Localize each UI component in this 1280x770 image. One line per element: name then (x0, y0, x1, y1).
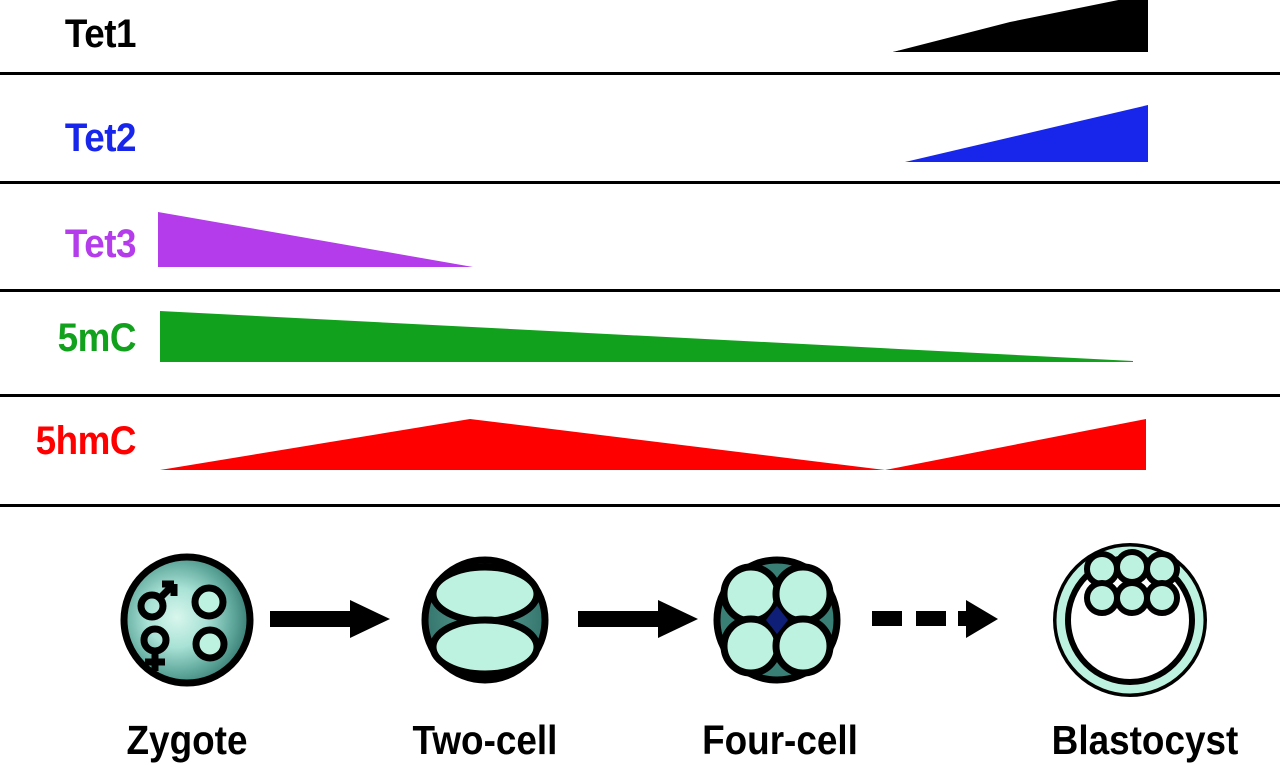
blastomere-bottom-right (776, 619, 830, 673)
5mc-band (160, 311, 1133, 362)
5hmc-band (160, 419, 1146, 470)
track-label-5hmc: 5hmC (11, 421, 136, 461)
pronucleus-lower (196, 630, 224, 658)
row-divider-3 (0, 289, 1280, 292)
blastomere-bottom (433, 620, 537, 674)
stage-label-two-cell: Two-cell (386, 720, 584, 761)
tet1-wedge (893, 0, 1148, 52)
track-label-tet2: Tet2 (11, 118, 136, 158)
track-label-tet1: Tet1 (11, 14, 136, 54)
blastomere-top (433, 567, 537, 621)
inner-cell-mass (1087, 552, 1177, 613)
blastomere-bottom-left (724, 619, 778, 673)
blastocyst-icon (1044, 534, 1216, 706)
tet1-wedge-fill (893, 0, 1148, 52)
tet3-wedge (158, 212, 473, 267)
tet1-wedge-shape (893, 0, 1148, 52)
stage-label-zygote: Zygote (88, 720, 286, 761)
arrow-four-cell-to-blastocyst (872, 598, 1000, 640)
arrow-two-cell-to-four-cell (578, 598, 702, 640)
four-cell-embryo-icon (707, 550, 847, 692)
stage-label-four-cell: Four-cell (681, 720, 879, 761)
two-cell-embryo-icon (415, 550, 555, 692)
blastomere-top-right (776, 567, 830, 621)
row-divider-4 (0, 394, 1280, 397)
stage-label-blastocyst: Blastocyst (1033, 720, 1258, 761)
figure-root: Tet1 Tet2 Tet3 5mC 5hmC (0, 0, 1280, 770)
pronucleus-upper (195, 588, 223, 616)
track-label-tet3: Tet3 (11, 224, 136, 264)
arrow-zygote-to-two-cell (270, 598, 394, 640)
row-divider-1 (0, 72, 1280, 75)
track-label-5mc: 5mC (11, 318, 136, 358)
zygote-cell-icon (112, 548, 262, 696)
row-divider-5 (0, 504, 1280, 507)
tet2-wedge (905, 105, 1148, 162)
blastomere-top-left (724, 567, 778, 621)
row-divider-2 (0, 181, 1280, 184)
